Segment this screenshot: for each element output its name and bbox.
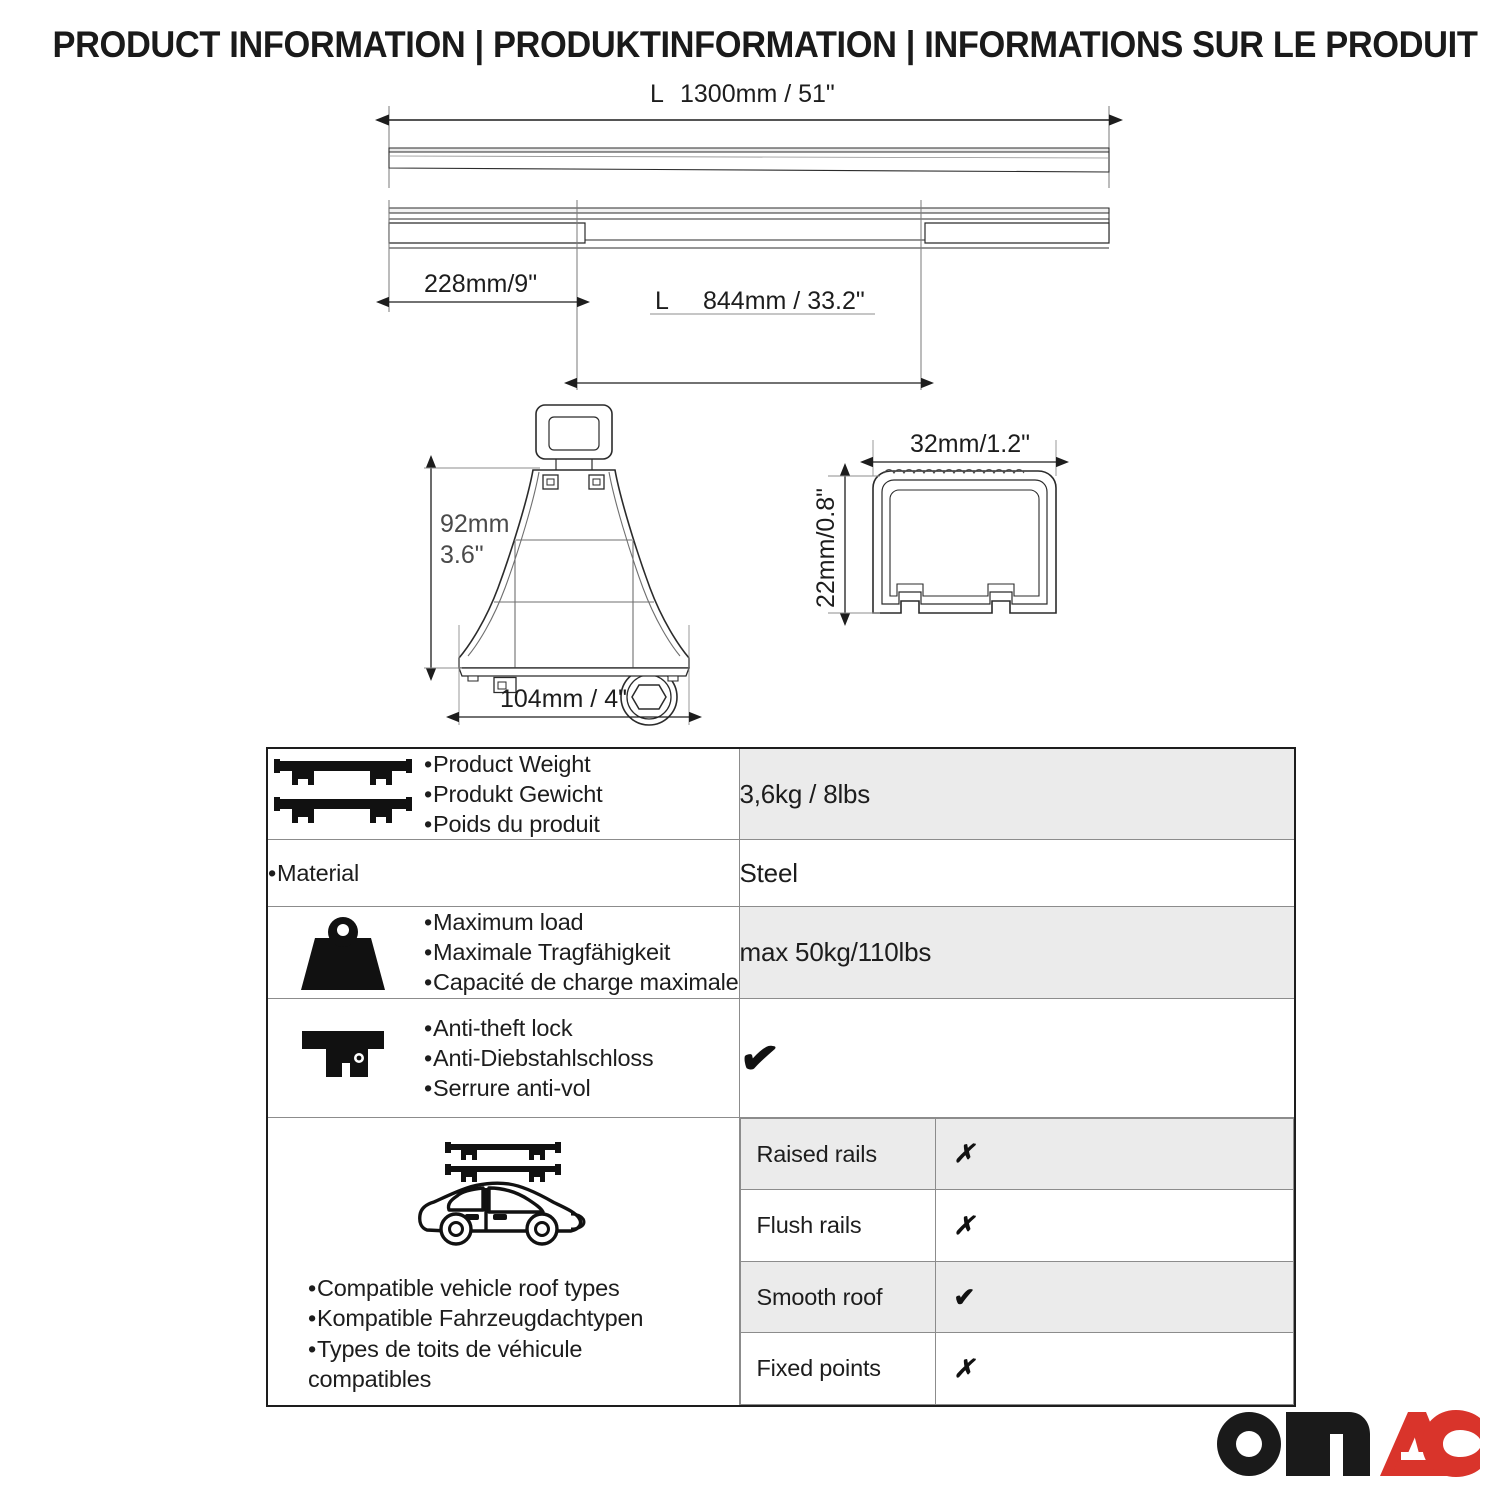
foot-front-view <box>459 405 689 725</box>
spec-label-line: Material <box>268 858 359 888</box>
bar-length-value: 1300mm / 51" <box>680 80 835 108</box>
cross-icon: ✗ <box>954 1140 975 1168</box>
roof-type-support: ✔ <box>935 1261 1293 1333</box>
spec-label-cell: Maximum load Maximale Tragfähigkeit Capa… <box>267 907 739 998</box>
spec-label-text: Anti-theft lock Anti-Diebstahlschloss Se… <box>424 1013 653 1103</box>
roof-bar-side-view <box>389 148 1109 172</box>
foot-offset-value: 228mm/9" <box>424 270 537 298</box>
foot-width-value: 104mm / 4" <box>500 685 627 713</box>
logo-letter-m <box>1286 1412 1370 1476</box>
roof-type-row: Smooth roof ✔ <box>740 1261 1293 1333</box>
spec-label-text: Maximum load Maximale Tragfähigkeit Capa… <box>424 907 739 997</box>
roof-type-row: Raised rails ✗ <box>740 1118 1293 1190</box>
spec-label-text: Material <box>268 858 359 888</box>
spec-label-cell: Product Weight Produkt Gewicht Poids du … <box>267 748 739 840</box>
foot-height-value: 92mm <box>440 510 509 538</box>
roof-bar-top-view <box>389 208 1109 248</box>
spec-label-line: Poids du produit <box>424 809 602 839</box>
check-icon: ✔ <box>737 1032 782 1083</box>
table-row: Anti-theft lock Anti-Diebstahlschloss Se… <box>267 998 1295 1117</box>
table-row: Material Steel <box>267 840 1295 907</box>
spec-label-line: Anti-Diebstahlschloss <box>424 1043 653 1073</box>
compat-label-line-continuation: compatibles <box>308 1364 739 1395</box>
roof-type-row: Fixed points ✗ <box>740 1333 1293 1405</box>
product-information-page: PRODUCT INFORMATION | PRODUKTINFORMATION… <box>0 0 1500 1500</box>
roof-types-cell: Raised rails ✗ Flush rails ✗ <box>739 1117 1295 1406</box>
spec-label-text: Product Weight Produkt Gewicht Poids du … <box>424 749 602 839</box>
cross-icon: ✗ <box>954 1212 975 1240</box>
bar-length-prefix: L <box>650 80 664 108</box>
foot-height-inches: 3.6" <box>440 541 484 569</box>
compatibility-label-cell: Compatible vehicle roof types Kompatible… <box>267 1117 739 1406</box>
roof-type-name: Smooth roof <box>740 1261 935 1333</box>
roof-type-name: Raised rails <box>740 1118 935 1190</box>
lock-icon <box>268 1025 418 1091</box>
page-title: PRODUCT INFORMATION | PRODUKTINFORMATION… <box>53 24 1448 66</box>
span-prefix: L <box>655 287 669 315</box>
span-value: 844mm / 33.2" <box>703 287 865 315</box>
spec-label-cell: Material <box>267 840 739 907</box>
spec-label-line: Maximale Tragfähigkeit <box>424 937 739 967</box>
compatibility-label-text: Compatible vehicle roof types Kompatible… <box>268 1273 739 1395</box>
spec-label-line: Product Weight <box>424 749 602 779</box>
cross-icon: ✗ <box>954 1355 975 1383</box>
table-row-compatibility: Compatible vehicle roof types Kompatible… <box>267 1117 1295 1406</box>
compat-label-line: Kompatible Fahrzeugdachtypen <box>308 1303 739 1334</box>
compat-label-line: Compatible vehicle roof types <box>308 1273 739 1304</box>
spec-label-line: Anti-theft lock <box>424 1013 653 1043</box>
roof-types-table: Raised rails ✗ Flush rails ✗ <box>740 1118 1294 1405</box>
profile-height-value: 22mm/0.8" <box>812 488 840 608</box>
spec-label-line: Serrure anti-vol <box>424 1073 653 1103</box>
roof-type-support: ✗ <box>935 1118 1293 1190</box>
spec-value-cell: 3,6kg / 8lbs <box>739 748 1295 840</box>
table-row: Maximum load Maximale Tragfähigkeit Capa… <box>267 907 1295 998</box>
table-row: Product Weight Produkt Gewicht Poids du … <box>267 748 1295 840</box>
technical-drawings: L 1300mm / 51" <box>0 80 1500 740</box>
roof-type-support: ✗ <box>935 1190 1293 1262</box>
roof-bars-icon <box>268 755 418 833</box>
profile-cross-section <box>873 470 1056 614</box>
spec-label-cell: Anti-theft lock Anti-Diebstahlschloss Se… <box>267 998 739 1117</box>
specification-table: Product Weight Produkt Gewicht Poids du … <box>266 747 1296 1407</box>
spec-value-cell: ✔ <box>739 998 1295 1117</box>
check-icon: ✔ <box>954 1282 976 1312</box>
roof-type-name: Flush rails <box>740 1190 935 1262</box>
spec-label-line: Capacité de charge maximale <box>424 967 739 997</box>
logo-letter-o <box>1217 1412 1281 1476</box>
bar-length-dimension <box>389 106 1109 188</box>
spec-label-line: Produkt Gewicht <box>424 779 602 809</box>
spec-value-cell: max 50kg/110lbs <box>739 907 1295 998</box>
compat-label-line: Types de toits de véhicule <box>308 1334 739 1365</box>
roof-type-support: ✗ <box>935 1333 1293 1405</box>
profile-width-value: 32mm/1.2" <box>910 430 1030 458</box>
drawings-svg: L 1300mm / 51" <box>0 80 1500 740</box>
spec-label-line: Maximum load <box>424 907 739 937</box>
roof-type-row: Flush rails ✗ <box>740 1190 1293 1262</box>
omac-logo <box>1212 1404 1482 1478</box>
spec-value-cell: Steel <box>739 840 1295 907</box>
car-with-roof-bars-icon <box>268 1134 739 1263</box>
weight-icon <box>268 910 418 994</box>
roof-type-name: Fixed points <box>740 1333 935 1405</box>
span-dimension <box>577 314 921 383</box>
